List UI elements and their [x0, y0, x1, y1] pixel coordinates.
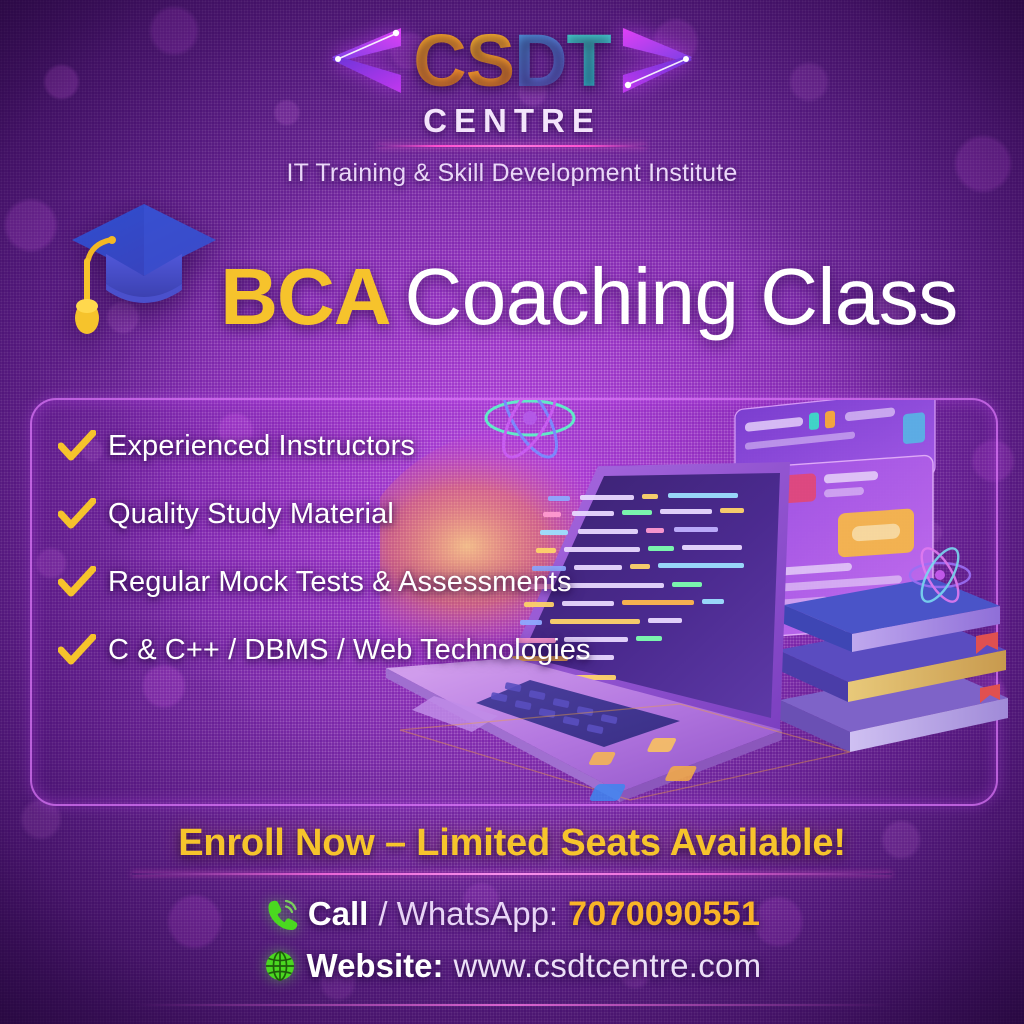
brand-tagline: IT Training & Skill Development Institut…: [0, 159, 1024, 188]
phone-separator: / WhatsApp:: [378, 895, 558, 933]
header-divider: [378, 145, 646, 147]
contact-section: Call / WhatsApp: 7070090551 Website: www…: [0, 888, 1024, 992]
logo-letter-s: S: [466, 24, 514, 98]
poster-canvas: C S D T CENTRE: [0, 0, 1024, 1024]
bracket-left-icon: [329, 26, 407, 96]
website-label: Website:: [307, 947, 444, 985]
contact-row-phone[interactable]: Call / WhatsApp: 7070090551: [0, 888, 1024, 940]
bottom-divider: [132, 1004, 892, 1006]
logo-wordmark: C S D T: [413, 24, 610, 98]
feature-label: Regular Mock Tests & Assessments: [108, 566, 572, 599]
title-rest: Coaching Class: [405, 252, 958, 341]
logo-row: C S D T: [0, 22, 1024, 100]
title-highlight: BCA: [220, 252, 390, 341]
cta-section: Enroll Now – Limited Seats Available!: [0, 822, 1024, 875]
check-icon: [58, 634, 96, 667]
phone-icon: [264, 897, 298, 931]
logo-letter-d: D: [514, 24, 566, 98]
feature-label: Quality Study Material: [108, 498, 394, 531]
cta-text: Enroll Now – Limited Seats Available!: [0, 822, 1024, 865]
bracket-right-icon: [617, 26, 695, 96]
stacked-books: [778, 578, 1008, 752]
website-url[interactable]: www.csdtcentre.com: [453, 947, 761, 985]
phone-number[interactable]: 7070090551: [568, 895, 760, 934]
brand-header: C S D T CENTRE: [0, 22, 1024, 188]
brand-subtitle: CENTRE: [0, 102, 1024, 140]
features-list: Experienced Instructors Quality Study Ma…: [58, 418, 618, 690]
headline-row: BCACoaching Class: [0, 248, 1024, 346]
list-item: Quality Study Material: [58, 486, 618, 543]
graduation-cap-icon: [66, 196, 224, 346]
list-item: Regular Mock Tests & Assessments: [58, 554, 618, 611]
list-item: Experienced Instructors: [58, 418, 618, 475]
cta-divider: [132, 873, 892, 875]
logo-letter-c: C: [413, 24, 465, 98]
globe-icon: [263, 949, 297, 983]
feature-label: Experienced Instructors: [108, 430, 415, 463]
check-icon: [58, 566, 96, 599]
page-title: BCACoaching Class: [220, 257, 958, 337]
check-icon: [58, 498, 96, 531]
contact-row-website[interactable]: Website: www.csdtcentre.com: [0, 940, 1024, 992]
check-icon: [58, 430, 96, 463]
phone-label: Call: [308, 895, 369, 933]
list-item: C & C++ / DBMS / Web Technologies: [58, 622, 618, 679]
feature-label: C & C++ / DBMS / Web Technologies: [108, 634, 591, 667]
logo-letter-t: T: [567, 24, 611, 98]
